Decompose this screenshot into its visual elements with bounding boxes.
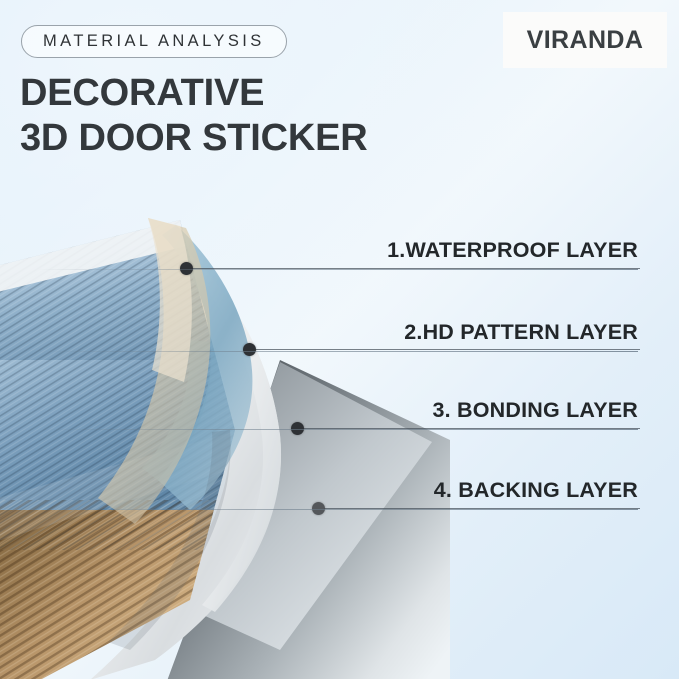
callout-rule-3 [38, 429, 638, 430]
callout-label-3: 3. BONDING LAYER [38, 400, 638, 429]
callout-bonding-layer: 3. BONDING LAYER [38, 400, 638, 430]
callout-rule-4 [38, 509, 638, 510]
eyebrow-label: MATERIAL ANALYSIS [43, 32, 265, 51]
callout-label-4: 4. BACKING LAYER [38, 480, 638, 509]
brand-logo: VIRANDA [503, 12, 667, 68]
page-title-line1: DECORATIVE [20, 72, 264, 115]
callout-backing-layer: 4. BACKING LAYER [38, 480, 638, 510]
brand-logo-text: VIRANDA [527, 26, 644, 55]
callout-waterproof-layer: 1.WATERPROOF LAYER [38, 240, 638, 270]
infographic-canvas: MATERIAL ANALYSIS DECORATIVE 3D DOOR STI… [0, 0, 679, 679]
callout-label-1: 1.WATERPROOF LAYER [38, 240, 638, 269]
page-title-line2: 3D DOOR STICKER [20, 117, 367, 160]
eyebrow-badge: MATERIAL ANALYSIS [21, 25, 287, 58]
callout-rule-1 [38, 269, 638, 270]
callout-hd-pattern-layer: 2.HD PATTERN LAYER [38, 322, 638, 352]
callout-rule-2 [38, 351, 638, 352]
callout-label-2: 2.HD PATTERN LAYER [38, 322, 638, 351]
